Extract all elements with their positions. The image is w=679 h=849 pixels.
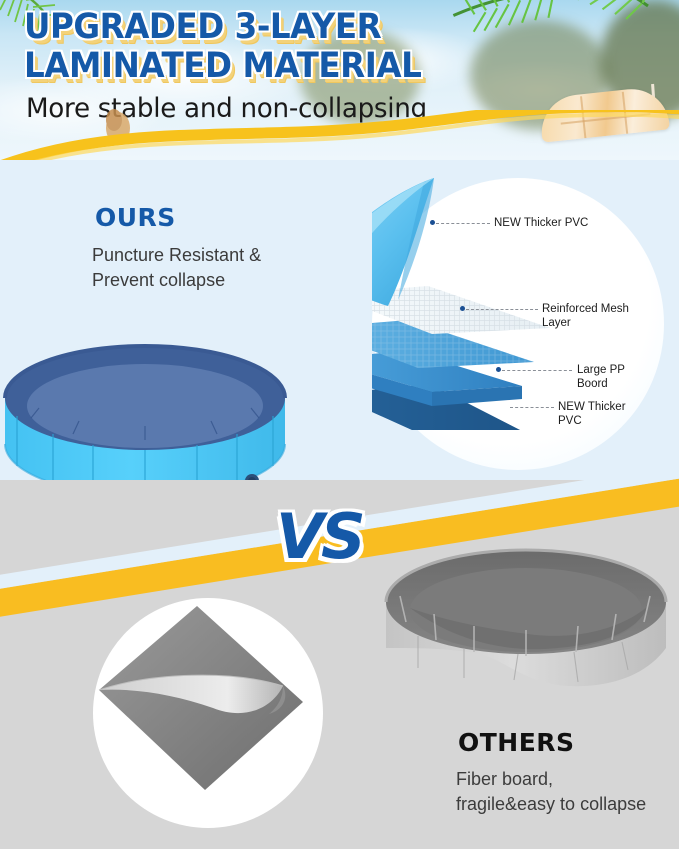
ours-heading: OURS — [95, 203, 176, 232]
peeling-sheet-illustration — [93, 598, 323, 828]
layer-label-1: NEW Thicker PVC — [494, 216, 612, 230]
others-heading: OTHERS — [458, 728, 575, 757]
layer-dot-1 — [430, 220, 435, 225]
layer-diagram: NEW Thicker PVC Reinforced Mesh Layer La… — [372, 178, 664, 470]
layer-leader-2 — [466, 309, 538, 310]
layer-label-4: NEW Thicker PVC — [558, 400, 638, 428]
versus-badge: VS — [276, 500, 363, 573]
layer-leader-3 — [502, 370, 572, 371]
others-pool-image — [378, 536, 678, 726]
others-material-image — [93, 598, 323, 828]
product-infographic: UPGRADED 3-LAYER LAMINATED MATERIAL More… — [0, 0, 679, 849]
layer-label-2: Reinforced Mesh Layer — [542, 302, 652, 330]
layer-leader-1 — [436, 223, 490, 224]
layer-leader-4 — [510, 407, 554, 408]
layer-dot-2 — [460, 306, 465, 311]
layer-label-3: Large PP Boord — [577, 363, 647, 391]
layer-dot-3 — [496, 367, 501, 372]
others-description: Fiber board, fragile&easy to collapse — [456, 767, 656, 817]
ours-description: Puncture Resistant & Prevent collapse — [92, 243, 307, 293]
